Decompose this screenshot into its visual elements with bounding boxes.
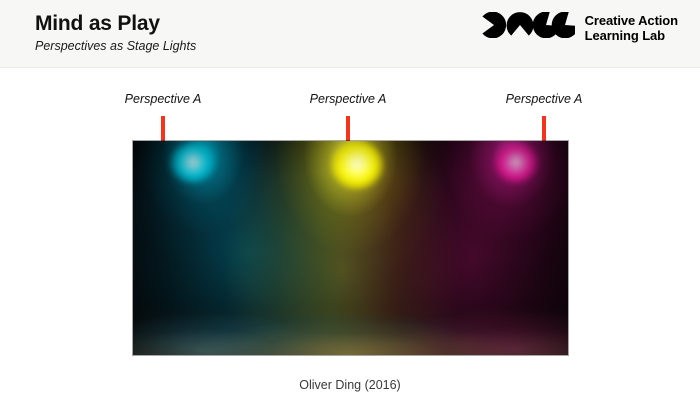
annotation-left: Perspective A <box>83 92 243 106</box>
page-subtitle: Perspectives as Stage Lights <box>35 38 196 55</box>
magenta-spotlight-core <box>494 143 538 183</box>
annotation-label: Perspective A <box>464 92 624 106</box>
header-title-block: Mind as Play Perspectives as Stage Light… <box>35 11 196 55</box>
yellow-spotlight-core <box>331 141 383 189</box>
brand-logo: Creative Action Learning Lab <box>481 12 678 43</box>
annotation-label: Perspective A <box>83 92 243 106</box>
stage-floor-haze <box>133 304 568 355</box>
cyan-spotlight-core <box>170 143 216 183</box>
annotation-right: Perspective A <box>464 92 624 106</box>
page-header: Mind as Play Perspectives as Stage Light… <box>0 0 700 68</box>
brand-name: Creative Action Learning Lab <box>585 13 678 43</box>
stage-figure <box>133 141 568 355</box>
annotation-center: Perspective A <box>268 92 428 106</box>
figure-caption: Oliver Ding (2016) <box>0 378 700 392</box>
call-pacman-logo-icon <box>481 12 575 43</box>
page-title: Mind as Play <box>35 11 196 36</box>
annotation-label: Perspective A <box>268 92 428 106</box>
stage-image <box>133 141 568 355</box>
